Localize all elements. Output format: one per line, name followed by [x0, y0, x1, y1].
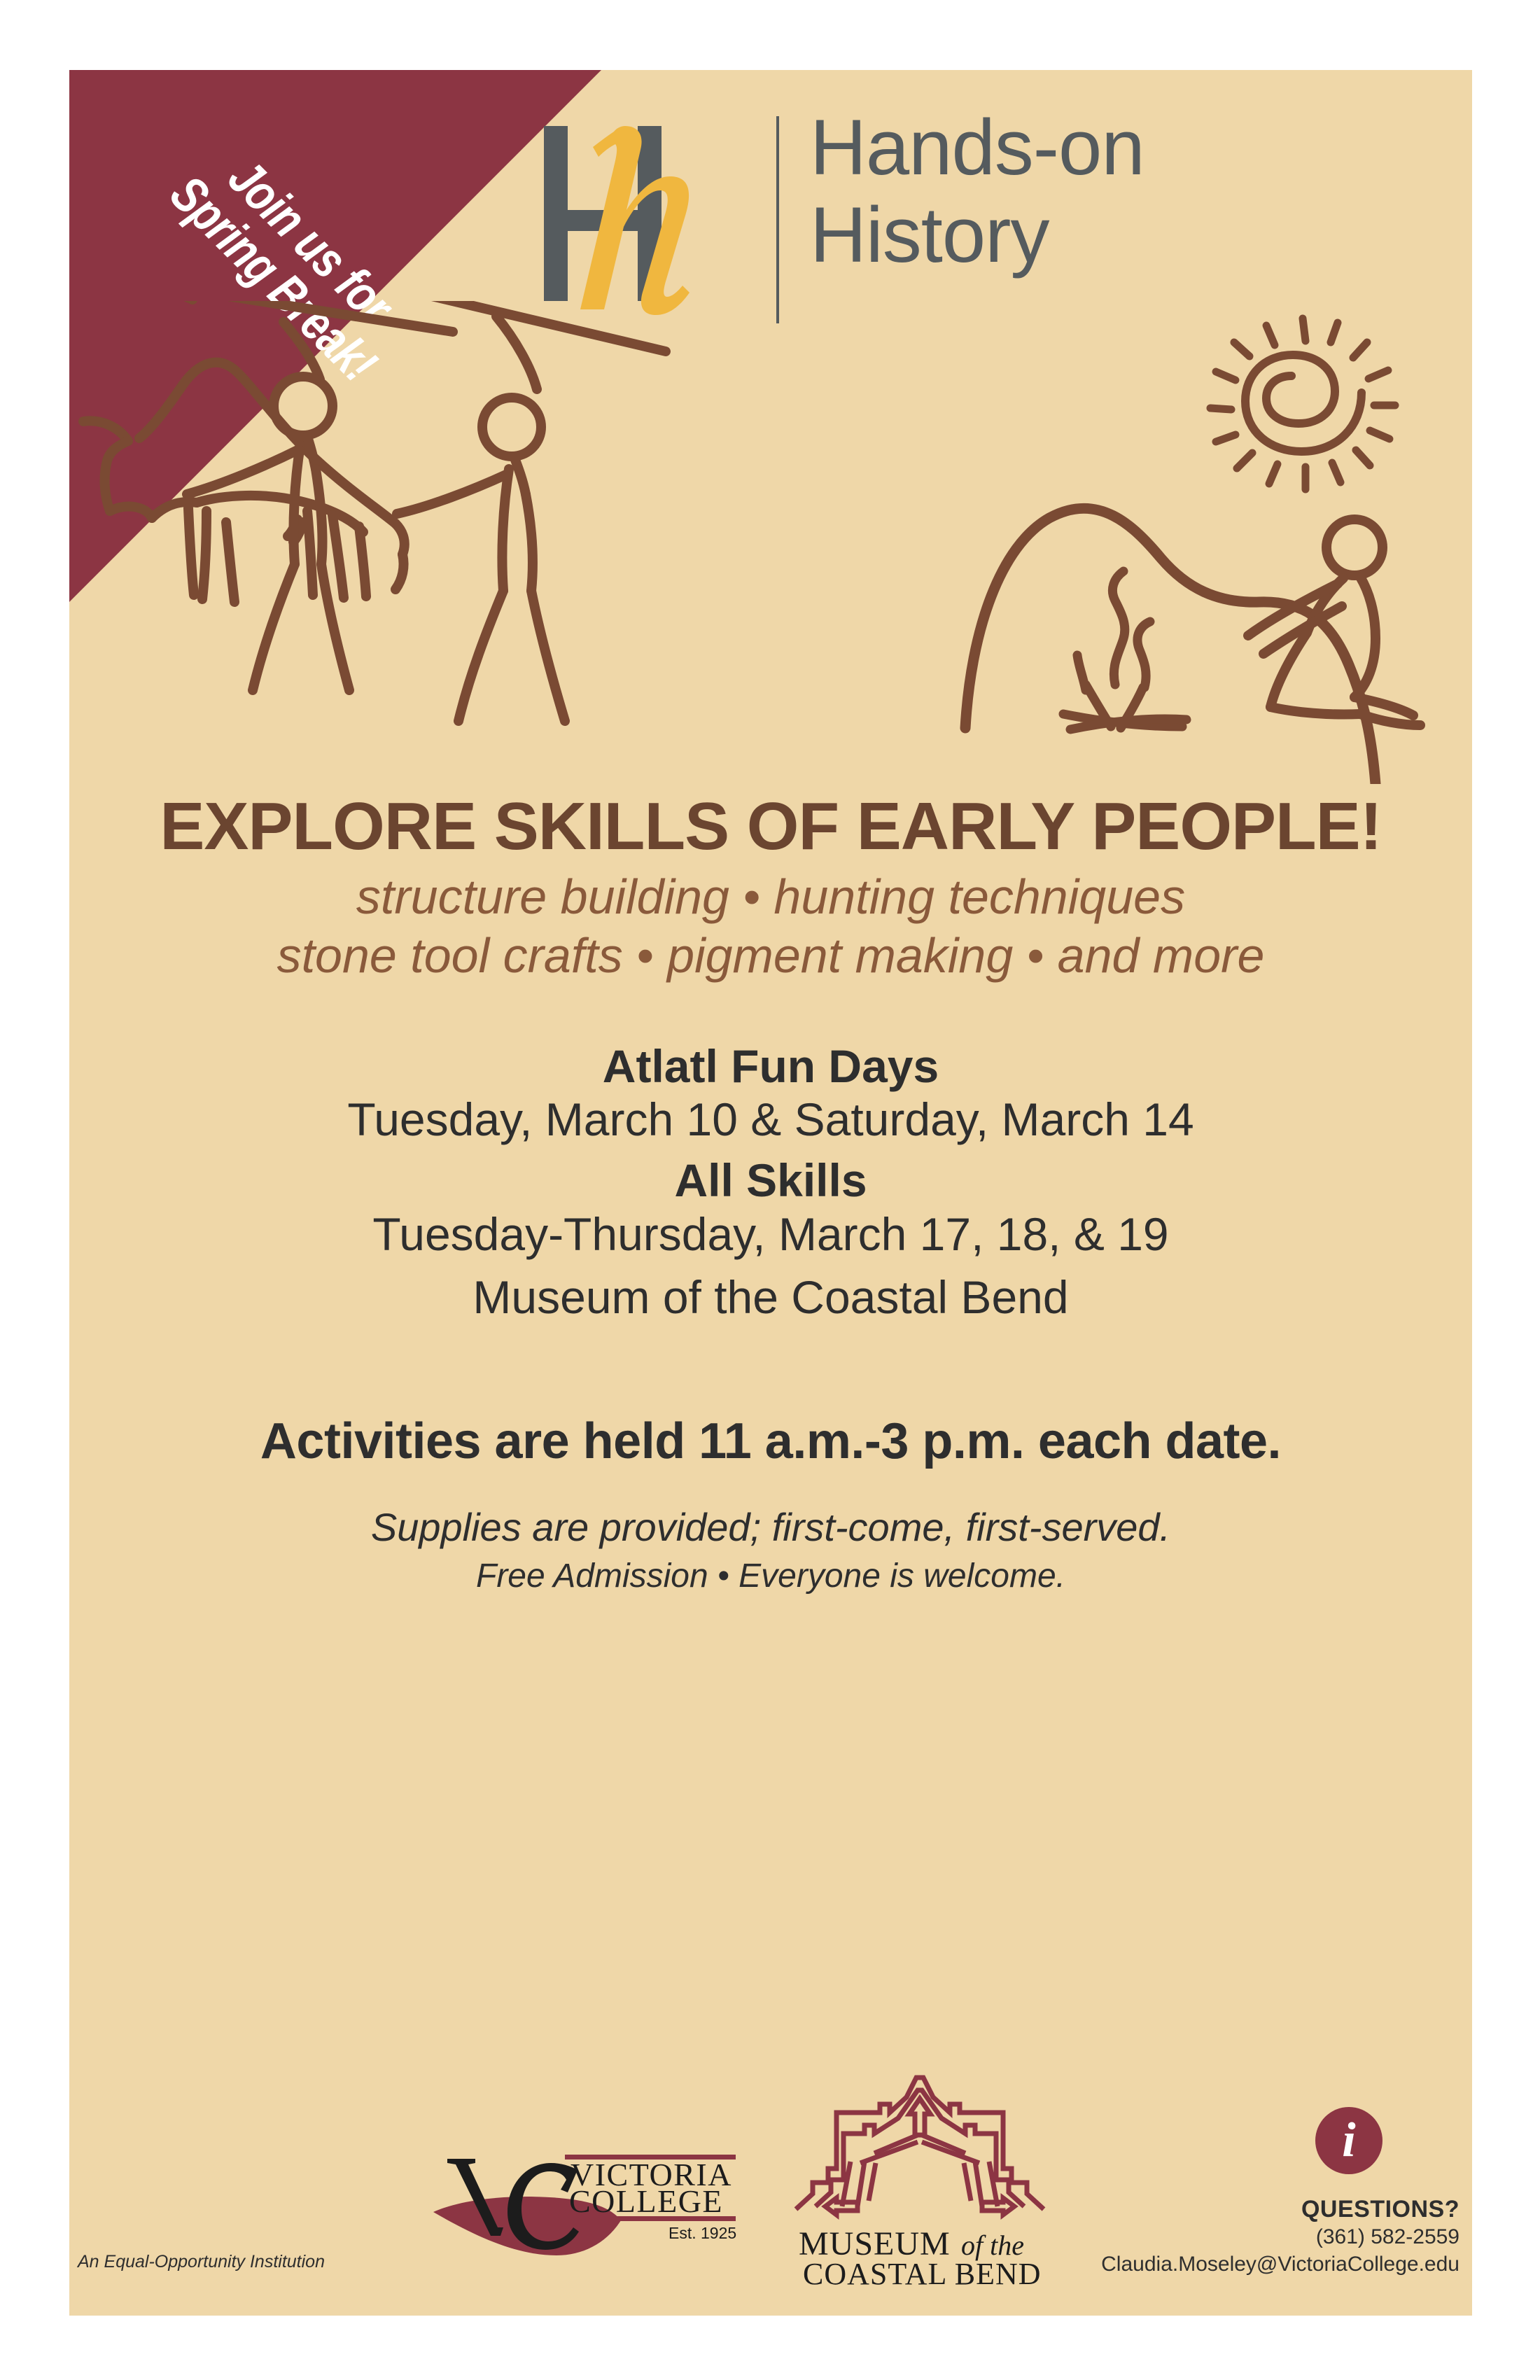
- campfire-icon: [1063, 571, 1186, 729]
- event-dates-atlatl: Tuesday, March 10 & Saturday, March 14: [69, 1093, 1472, 1147]
- spacer: [69, 985, 1472, 1039]
- spacer: [69, 1470, 1472, 1504]
- event-title-atlatl: Atlatl Fun Days: [69, 1039, 1472, 1093]
- svg-text:COLLEGE: COLLEGE: [569, 2183, 723, 2219]
- questions-phone[interactable]: (361) 582-2559: [1011, 2223, 1459, 2250]
- page-title: EXPLORE SKILLS OF EARLY PEOPLE!: [69, 791, 1472, 862]
- venue-name: Museum of the Coastal Bend: [69, 1270, 1472, 1324]
- kneeling-figure: [1248, 519, 1420, 725]
- sun-spiral-icon: [1210, 318, 1395, 489]
- hunter-figure-right: [358, 301, 666, 721]
- equal-opportunity-note: An Equal-Opportunity Institution: [78, 2252, 372, 2272]
- info-icon-glyph: i: [1315, 2107, 1382, 2174]
- supplies-note: Supplies are provided; first-come, first…: [69, 1504, 1472, 1551]
- logo-wordmark: Hands-on History: [810, 104, 1144, 279]
- hill-outline: [965, 508, 1375, 784]
- subtitle-line-2: stone tool crafts • pigment making • and…: [69, 927, 1472, 985]
- logo-title-line-2: History: [810, 191, 1144, 279]
- cave-art-illustration: [69, 301, 1472, 784]
- questions-label: QUESTIONS?: [1011, 2196, 1459, 2223]
- svg-text:COASTAL BEND: COASTAL BEND: [803, 2257, 1042, 2288]
- info-icon: i: [1315, 2107, 1382, 2174]
- poster-body: EXPLORE SKILLS OF EARLY PEOPLE! structur…: [69, 791, 1472, 1597]
- bison-figure: [83, 363, 405, 602]
- victoria-college-logo: VICTORIA COLLEGE Est. 1925: [433, 2129, 762, 2262]
- poster-canvas: Join us for Spring Break! Hands-on Histo…: [69, 70, 1472, 2316]
- event-title-all-skills: All Skills: [69, 1154, 1472, 1207]
- hh-monogram-icon: [531, 106, 741, 316]
- subtitle-line-1: structure building • hunting techniques: [69, 868, 1472, 926]
- event-dates-all-skills: Tuesday-Thursday, March 17, 18, & 19: [69, 1207, 1472, 1261]
- spacer: [69, 1371, 1472, 1413]
- poster-footer: An Equal-Opportunity Institution VICTORI…: [69, 2015, 1472, 2316]
- logo-divider: [776, 116, 779, 323]
- questions-block: i QUESTIONS? (361) 582-2559 Claudia.Mose…: [1011, 2107, 1459, 2278]
- logo-title-line-1: Hands-on: [810, 104, 1144, 191]
- activity-hours: Activities are held 11 a.m.-3 p.m. each …: [69, 1413, 1472, 1471]
- svg-text:Est. 1925: Est. 1925: [668, 2224, 736, 2242]
- admission-note: Free Admission • Everyone is welcome.: [69, 1556, 1472, 1597]
- questions-email[interactable]: Claudia.Moseley@VictoriaCollege.edu: [1011, 2250, 1459, 2278]
